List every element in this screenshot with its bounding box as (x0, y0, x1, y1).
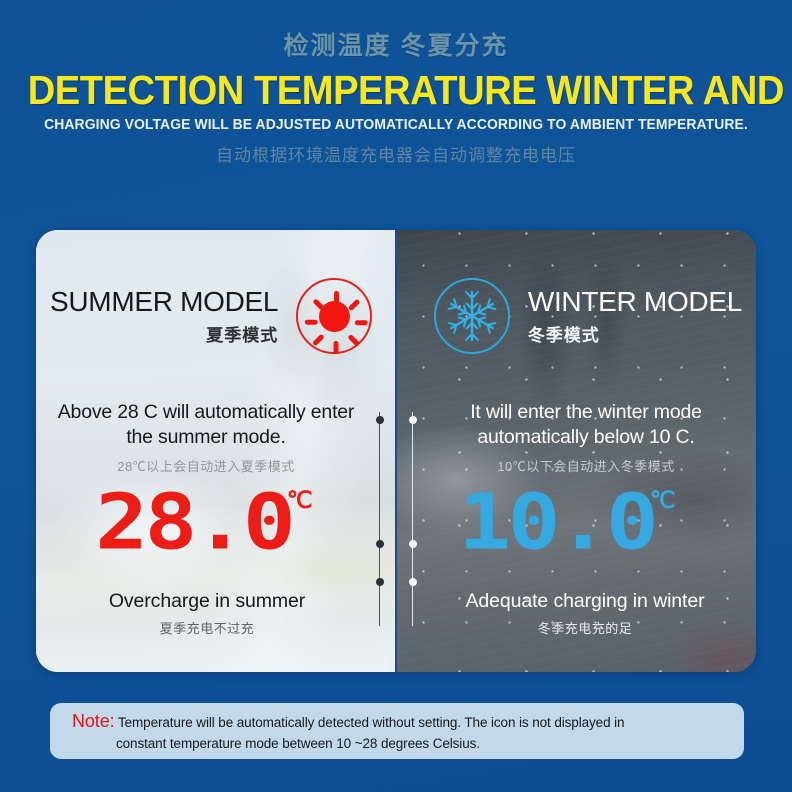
summer-statement-cn: 28℃以上会自动进入夏季模式 (46, 456, 366, 475)
summer-mode-title-cn: 夏季模式 (50, 321, 278, 346)
panel-divider (395, 230, 397, 672)
note-keyword: Note: (72, 711, 115, 731)
winter-timeline (408, 412, 417, 626)
summer-mode-title: SUMMER MODEL (50, 287, 278, 317)
summer-temperature-value: 28.0 (96, 488, 293, 556)
winter-statement-en: It will enter the winter mode automatica… (426, 400, 746, 450)
winter-caption-cn: 冬季充电充的足 (420, 618, 750, 637)
winter-mode-panel: WINTER MODEL 冬季模式 It will enter the wint… (396, 230, 756, 672)
page-title: DETECTION TEMPERATURE WINTER AND SUMMER (28, 68, 765, 112)
note-line-1: Note: Temperature will be automatically … (72, 711, 726, 733)
summer-caption-cn: 夏季充电不过充 (42, 618, 372, 637)
winter-mode-title: WINTER MODEL (528, 287, 742, 317)
winter-title-row: WINTER MODEL 冬季模式 (434, 278, 742, 354)
header-chinese-headline: 检测温度 冬夏分充 (0, 26, 792, 62)
summer-statement-en: Above 28 C will automatically enter the … (46, 400, 366, 450)
summer-statement: Above 28 C will automatically enter the … (46, 400, 366, 475)
comparison-card: SUMMER MODEL 夏季模式 (36, 230, 756, 672)
winter-caption-en: Adequate charging in winter (420, 590, 750, 613)
header-block: 检测温度 冬夏分充 DETECTION TEMPERATURE WINTER A… (0, 0, 792, 190)
note-line-2: constant temperature mode between 10 ~28… (72, 733, 726, 754)
summer-timeline (375, 412, 384, 626)
snowflake-icon (434, 278, 510, 354)
snowflake-glyph (443, 287, 501, 345)
winter-caption: Adequate charging in winter 冬季充电充的足 (420, 590, 750, 637)
summer-mode-panel: SUMMER MODEL 夏季模式 (36, 230, 396, 672)
winter-mode-title-cn: 冬季模式 (528, 321, 742, 346)
sun-core-icon (319, 301, 350, 332)
header-subtitle: CHARGING VOLTAGE WILL BE ADJUSTED AUTOMA… (16, 117, 776, 133)
winter-statement: It will enter the winter mode automatica… (426, 400, 746, 475)
note-box: Note: Temperature will be automatically … (50, 703, 744, 759)
summer-caption-en: Overcharge in summer (42, 590, 372, 613)
note-text-1: Temperature will be automatically detect… (118, 715, 624, 730)
summer-caption: Overcharge in summer 夏季充电不过充 (42, 590, 372, 637)
summer-temperature-display: 28.0 ℃ (36, 488, 396, 552)
poster-background: 检测温度 冬夏分充 DETECTION TEMPERATURE WINTER A… (0, 0, 792, 792)
winter-temperature-value: 10.0 (459, 488, 656, 556)
winter-statement-cn: 10℃以下会自动进入冬季模式 (426, 456, 746, 475)
winter-temperature-display: 10.0 ℃ (396, 488, 756, 552)
summer-title-row: SUMMER MODEL 夏季模式 (50, 278, 372, 354)
sun-icon (296, 278, 372, 354)
header-chinese-subtitle: 自动根据环境温度充电器会自动调整充电电压 (0, 141, 792, 166)
